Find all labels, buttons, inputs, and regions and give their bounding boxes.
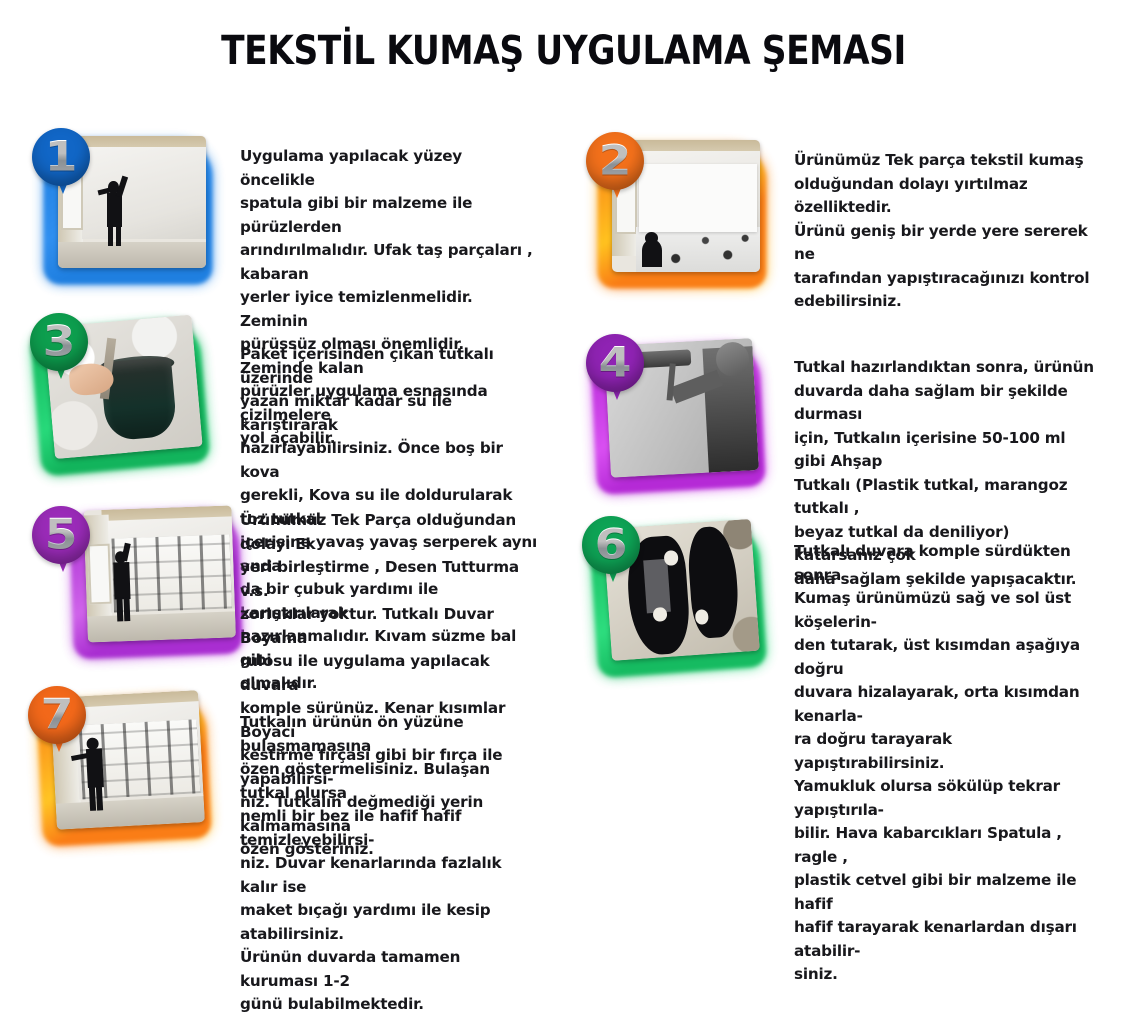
step-6-media: 6 [568, 516, 768, 686]
photo-5 [83, 505, 236, 642]
step-7-media: 7 [14, 686, 214, 856]
step-badge-1: 1 [32, 128, 90, 186]
step-3-media: 3 [10, 313, 210, 483]
step-badge-6: 6 [582, 516, 640, 574]
step-4-media: 4 [568, 334, 768, 504]
roller-on-wall-icon [83, 505, 236, 642]
photo-frame-5 [75, 505, 240, 660]
step-number-3: 3 [25, 312, 93, 373]
step-5-media: 5 [46, 500, 246, 670]
step-number-6: 6 [577, 515, 645, 576]
page-title: TEKSTİL KUMAŞ UYGULAMA ŞEMASI [79, 28, 1048, 74]
step-badge-5: 5 [32, 506, 90, 564]
step-badge-7: 7 [28, 686, 86, 744]
step-number-2: 2 [581, 131, 649, 192]
step-number-4: 4 [581, 333, 649, 394]
step-number-7: 7 [23, 685, 91, 746]
step-badge-3: 3 [30, 313, 88, 371]
step-1-media: 1 [18, 128, 218, 298]
step-badge-2: 2 [586, 132, 644, 190]
step-number-5: 5 [27, 505, 95, 566]
step-2-media: 2 [572, 132, 772, 302]
step-2-description: Ürünümüz Tek parça tekstil kumaş olduğun… [794, 149, 1094, 314]
step-number-1: 1 [27, 127, 95, 188]
step-badge-4: 4 [586, 334, 644, 392]
step-6-description: Tutkalı duvara komple sürdükten sonra Ku… [794, 540, 1094, 987]
step-7-description: Tutkalın ürünün ön yüzüne bulaşmamasına … [240, 711, 540, 1017]
